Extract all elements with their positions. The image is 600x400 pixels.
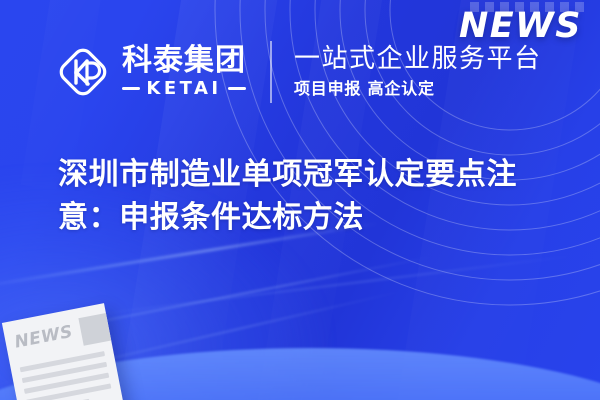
brand-name-cn: 科泰集团	[122, 46, 246, 77]
slogan-block: 一站式企业服务平台 项目申报 高企认定	[294, 44, 542, 100]
brand-name-en: KETAI	[146, 80, 221, 98]
header-divider	[270, 41, 272, 103]
headline-title: 深圳市制造业单项冠军认定要点注意：申报条件达标方法	[58, 154, 558, 239]
slogan-main: 一站式企业服务平台	[294, 44, 542, 74]
newspaper-title: NEWS	[13, 324, 74, 352]
wordmark-rule-left	[122, 87, 140, 90]
news-banner: NEWS 科泰集团 KETAI	[0, 0, 600, 400]
ketai-diamond-logo-icon	[56, 45, 110, 99]
brand-name-en-row: KETAI	[122, 80, 246, 98]
wordmark-rule-right	[228, 87, 246, 90]
newspaper-text-lines	[20, 351, 114, 400]
brand-logo-lockup: 科泰集团 KETAI	[56, 45, 246, 99]
newspaper-image-placeholder	[78, 313, 111, 346]
newspaper-header: NEWS	[13, 315, 103, 359]
brand-header: 科泰集团 KETAI 一站式企业服务平台 项目申报 高企认定	[56, 34, 542, 110]
slogan-sub: 项目申报 高企认定	[294, 79, 542, 100]
brand-wordmark: 科泰集团 KETAI	[122, 46, 246, 98]
